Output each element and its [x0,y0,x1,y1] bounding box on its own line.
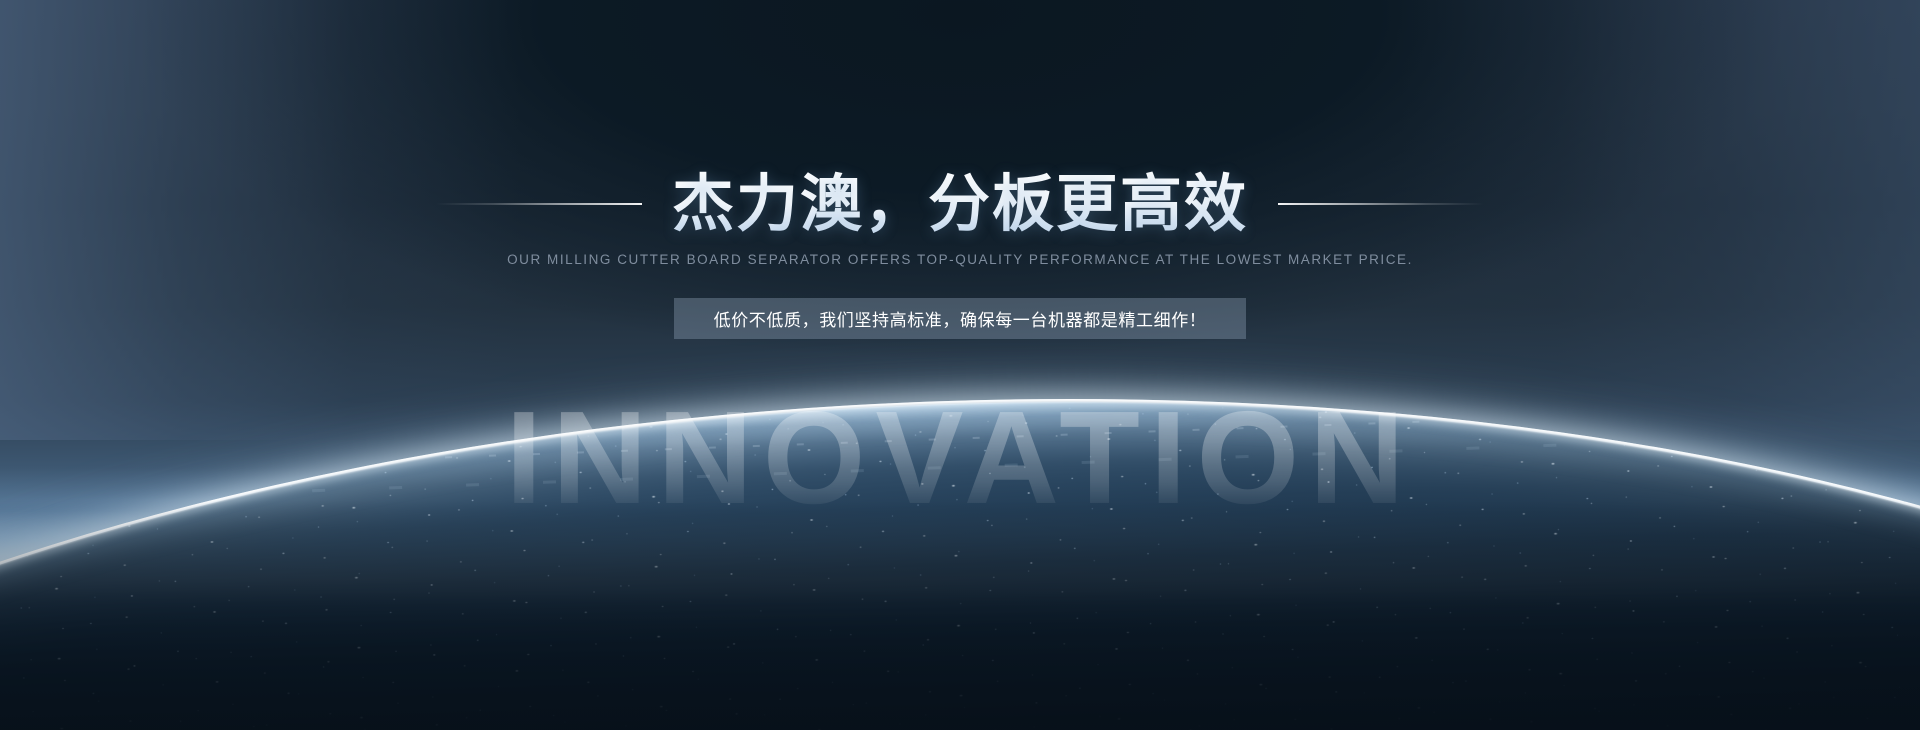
banner-tagline: 低价不低质，我们坚持高标准，确保每一台机器都是精工细作！ [674,298,1246,339]
decorative-line-right [1278,203,1484,205]
tagline-row: 低价不低质，我们坚持高标准，确保每一台机器都是精工细作！ [0,298,1920,339]
hero-banner: INNOVATION 杰力澳，分板更高效 OUR MILLING CUTTER … [0,0,1920,730]
banner-title: 杰力澳，分板更高效 [672,170,1248,239]
banner-subtitle: OUR MILLING CUTTER BOARD SEPARATOR OFFER… [0,252,1920,267]
decorative-line-left [436,203,642,205]
banner-content: 杰力澳，分板更高效 OUR MILLING CUTTER BOARD SEPAR… [0,0,1920,730]
